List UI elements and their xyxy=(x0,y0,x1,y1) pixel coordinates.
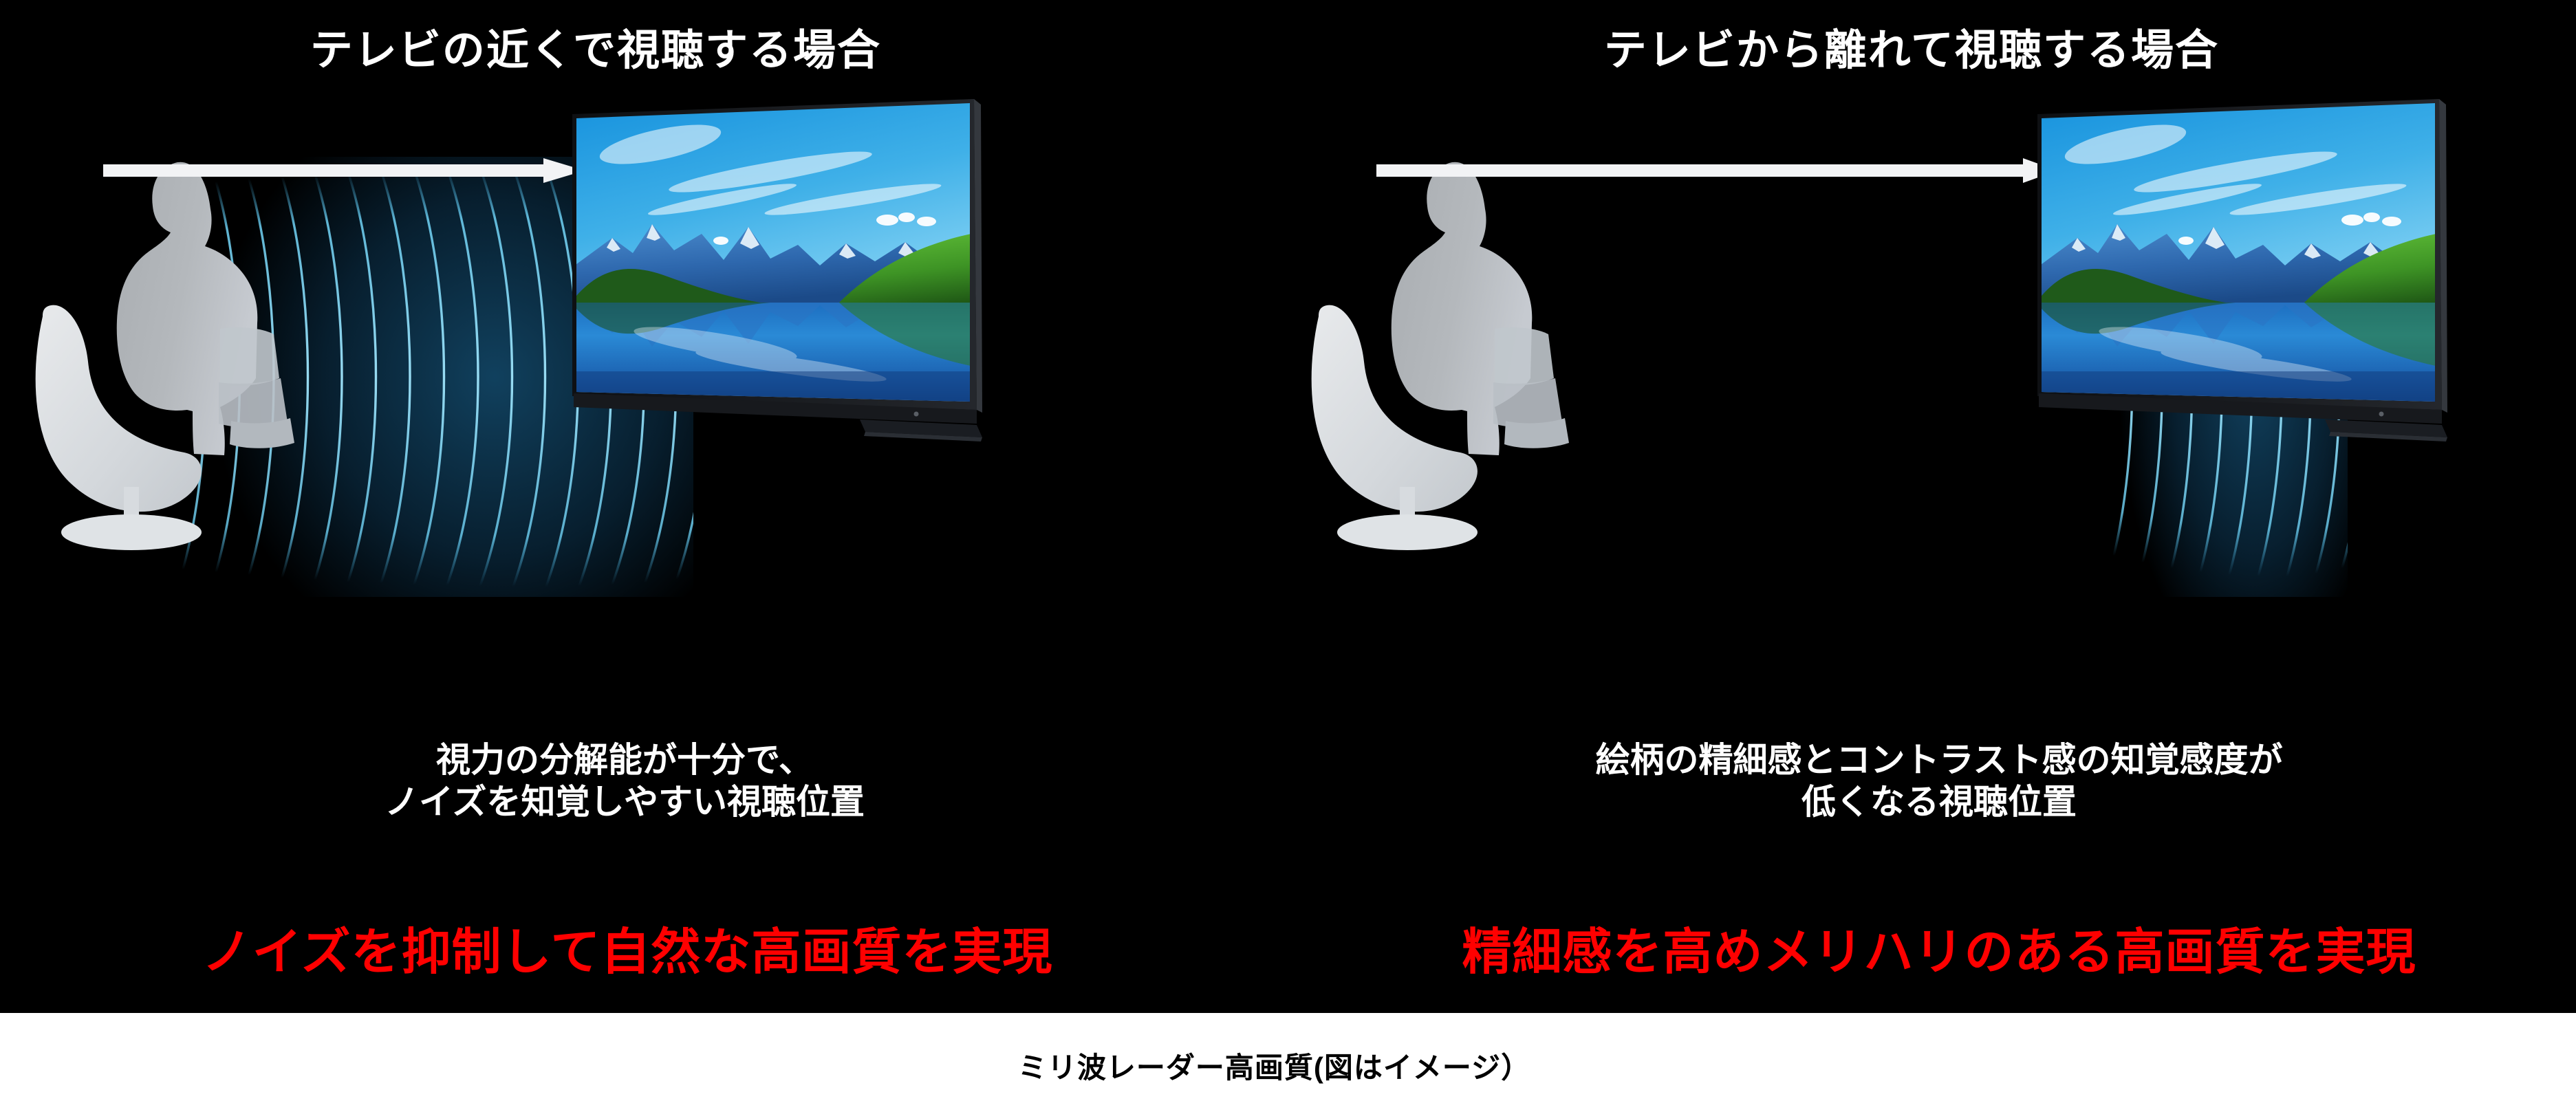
person-lap xyxy=(220,327,279,386)
scene-far xyxy=(1288,96,2576,640)
power-indicator-icon xyxy=(2379,412,2384,417)
panel-far-viewing: テレビから離れて視聴する場合 xyxy=(1288,0,2576,1013)
caption-far-line2: 低くなる視聴位置 xyxy=(1295,781,2576,823)
person-silhouette xyxy=(89,151,316,475)
tv-shape xyxy=(2029,96,2511,454)
caption-near-line1: 視力の分解能が十分で、 xyxy=(0,739,1268,781)
scene-near xyxy=(0,96,1288,640)
arrow-shape xyxy=(103,157,598,184)
caption-far: 絵柄の精細感とコントラスト感の知覚感度が 低くなる視聴位置 xyxy=(1295,739,2576,823)
seated-viewer-near xyxy=(89,151,316,475)
person-silhouette xyxy=(1364,151,1591,475)
panel-near-viewing: テレビの近くで視聴する場合 xyxy=(0,0,1288,1013)
tv-shape xyxy=(564,96,1046,454)
television-near xyxy=(564,96,1046,454)
caption-near-line2: ノイズを知覚しやすい視聴位置 xyxy=(0,781,1268,823)
figure-caption: ミリ波レーダー高画質(図はイメージ） xyxy=(1018,1045,1530,1087)
headline-near: ノイズを抑制して自然な高画質を実現 xyxy=(0,911,1271,983)
person-legs xyxy=(1493,378,1562,428)
person-lap xyxy=(1495,327,1554,386)
sightline-arrow-long xyxy=(1376,157,2064,184)
arrow-shape xyxy=(1376,157,2064,184)
television-far xyxy=(2029,96,2511,454)
tv-screen-picture xyxy=(571,96,985,413)
seated-viewer-far xyxy=(1364,151,1591,475)
caption-far-line1: 絵柄の精細感とコントラスト感の知覚感度が xyxy=(1295,739,2576,781)
caption-near: 視力の分解能が十分で、 ノイズを知覚しやすい視聴位置 xyxy=(0,739,1268,823)
sightline-arrow-short xyxy=(103,157,598,184)
power-indicator-icon xyxy=(914,412,919,417)
chair-base xyxy=(1337,514,1478,550)
arrow-body xyxy=(1376,158,2057,183)
millimeter-wave-radar-picture-quality-figure: テレビの近くで視聴する場合 xyxy=(0,0,2576,1112)
panel-title-far: テレビから離れて視聴する場合 xyxy=(1268,15,2555,77)
arrow-body xyxy=(103,158,585,183)
black-stage: テレビの近くで視聴する場合 xyxy=(0,0,2576,1013)
chair-base xyxy=(61,514,202,550)
person-legs xyxy=(219,378,288,428)
headline-far: 精細感を高めメリハリのある高画質を実現 xyxy=(1295,911,2576,983)
panel-title-near: テレビの近くで視聴する場合 xyxy=(0,15,1240,77)
tv-screen-picture xyxy=(2036,96,2450,413)
footer-bar: ミリ波レーダー高画質(図はイメージ） xyxy=(0,1013,2576,1112)
